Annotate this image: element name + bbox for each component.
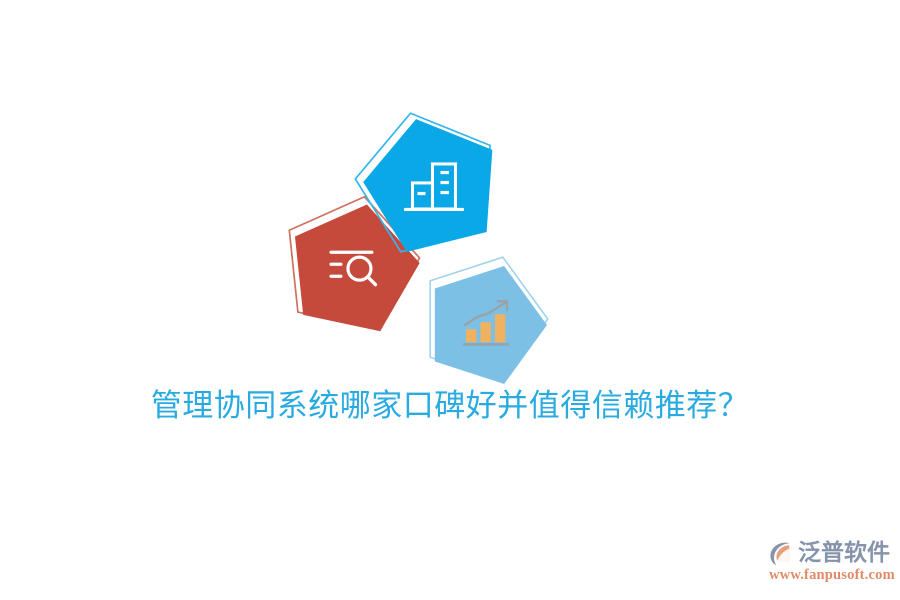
page-canvas: 管理协同系统哪家口碑好并值得信赖推荐？ 泛普软件 www.fanpusoft.c… bbox=[0, 0, 900, 600]
watermark-brand-row: 泛普软件 bbox=[768, 538, 892, 568]
watermark-logo: 泛普软件 www.fanpusoft.com bbox=[768, 538, 892, 588]
page-title: 管理协同系统哪家口碑好并值得信赖推荐？ bbox=[0, 386, 900, 426]
chart-bar-2 bbox=[480, 322, 491, 342]
pentagon-lightblue-chart bbox=[407, 238, 563, 391]
watermark-url: www.fanpusoft.com bbox=[769, 567, 892, 584]
pentagon-lightblue-fill bbox=[413, 248, 560, 391]
watermark-brand-name: 泛普软件 bbox=[798, 539, 890, 567]
chart-bar-3 bbox=[495, 314, 506, 342]
fanpu-logo-mark-icon bbox=[768, 539, 796, 567]
chart-bar-1 bbox=[466, 329, 477, 342]
pentagon-cluster-graphic bbox=[270, 105, 590, 390]
